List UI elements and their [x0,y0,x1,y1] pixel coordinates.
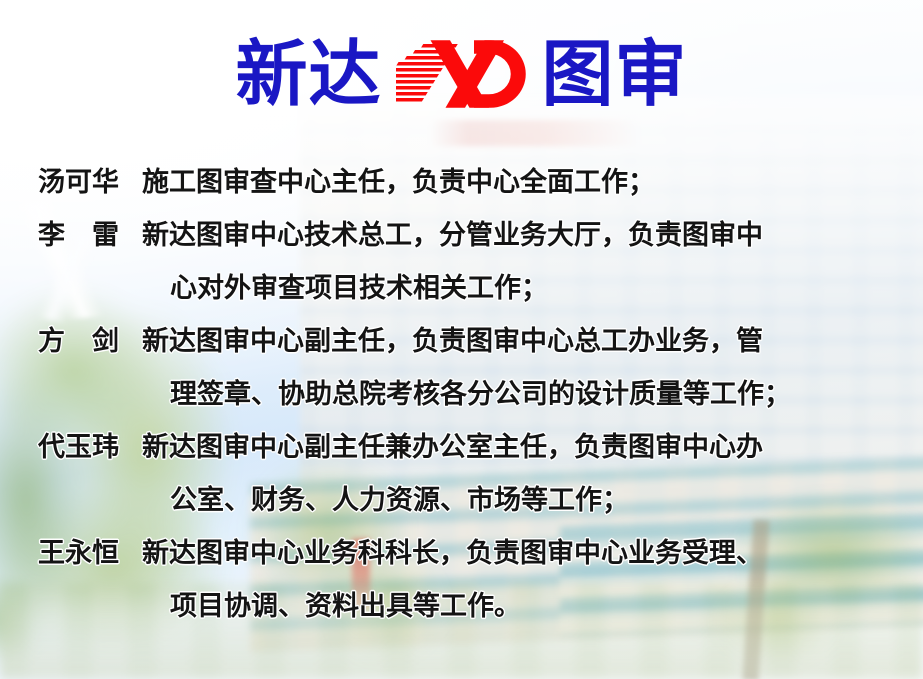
staff-description: 新达图审中心技术总工，分管业务大厅，负责图审中 心对外审查项目技术相关工作； [142,209,905,315]
staff-roster: 汤可华 施工图审查中心主任，负责中心全面工作； 李 雷 新达图审中心技术总工，分… [38,156,905,633]
staff-description-line: 新达图审中心技术总工，分管业务大厅，负责图审中 [142,209,905,262]
staff-description-line: 理签章、协助总院考核各分公司的设计质量等工作； [142,368,905,421]
roster-entry: 王永恒 新达图审中心业务科科长，负责图审中心业务受理、 项目协调、资料出具等工作… [38,527,905,633]
staff-description-line: 新达图审中心业务科科长，负责图审中心业务受理、 [142,527,905,580]
staff-description-line: 公室、财务、人力资源、市场等工作； [142,474,905,527]
roster-entry: 代玉玮 新达图审中心副主任兼办公室主任，负责图审中心办 公室、财务、人力资源、市… [38,421,905,527]
staff-name: 方 剑 [38,315,142,368]
staff-description: 新达图审中心业务科科长，负责图审中心业务受理、 项目协调、资料出具等工作。 [142,527,905,633]
roster-entry: 李 雷 新达图审中心技术总工，分管业务大厅，负责图审中 心对外审查项目技术相关工… [38,209,905,315]
presentation-slide: 新达 图审 [0,0,923,679]
staff-description-line: 项目协调、资料出具等工作。 [142,580,905,633]
staff-description-line: 新达图审中心副主任，负责图审中心总工办业务，管 [142,315,905,368]
staff-description-line: 新达图审中心副主任兼办公室主任，负责图审中心办 [142,421,905,474]
staff-description: 新达图审中心副主任，负责图审中心总工办业务，管 理签章、协助总院考核各分公司的设… [142,315,905,421]
xd-monogram-logo [396,37,528,111]
staff-description-line: 施工图审查中心主任，负责中心全面工作； [142,156,905,209]
staff-description: 新达图审中心副主任兼办公室主任，负责图审中心办 公室、财务、人力资源、市场等工作… [142,421,905,527]
title-right-text: 图审 [542,38,688,110]
staff-description-line: 心对外审查项目技术相关工作； [142,262,905,315]
title-left-text: 新达 [235,38,381,110]
roster-entry: 方 剑 新达图审中心副主任，负责图审中心总工办业务，管 理签章、协助总院考核各分… [38,315,905,421]
staff-description: 施工图审查中心主任，负责中心全面工作； [142,156,905,209]
staff-name: 李 雷 [38,209,142,262]
roster-entry: 汤可华 施工图审查中心主任，负责中心全面工作； [38,156,905,209]
staff-name: 王永恒 [38,527,142,580]
staff-name: 汤可华 [38,156,142,209]
slide-title: 新达 图审 [0,24,923,124]
staff-name: 代玉玮 [38,421,142,474]
